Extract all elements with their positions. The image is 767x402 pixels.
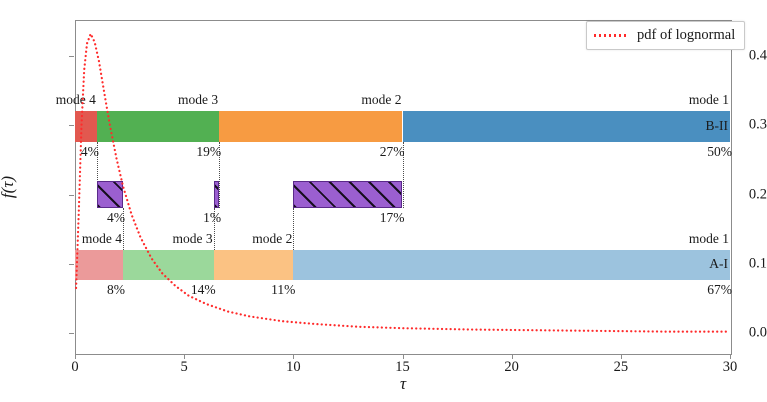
segment-percentage-label: 27% (380, 144, 405, 160)
plot-area (75, 20, 732, 355)
segment-percentage-label: 8% (107, 282, 125, 298)
x-tick-label: 30 (723, 359, 738, 376)
x-tick-label: 10 (286, 359, 301, 376)
bar-segment[interactable] (219, 111, 402, 141)
x-tick-label: 20 (504, 359, 519, 376)
x-tick-label: 0 (71, 359, 78, 376)
bar-segment[interactable] (75, 111, 97, 141)
segment-mode-label: mode 2 (361, 92, 401, 108)
bar-segment[interactable] (97, 181, 123, 209)
segment-percentage-label: 4% (81, 144, 99, 160)
y-tick-mark (69, 195, 74, 196)
bar-segment[interactable] (214, 250, 294, 280)
bar-segment[interactable] (403, 111, 731, 141)
bar-segment[interactable] (214, 181, 219, 209)
legend-label: pdf of lognormal (637, 27, 735, 44)
lognormal-mode-distribution-figure: f(τ) τ 0.00.10.20.30.4 051015202530 mode… (0, 0, 767, 402)
segment-mode-label: mode 1 (689, 231, 729, 247)
segment-percentage-label: 1% (203, 210, 221, 226)
segment-mode-label: mode 4 (82, 231, 122, 247)
segment-percentage-label: 50% (707, 144, 732, 160)
y-tick-mark (69, 264, 74, 265)
segment-percentage-label: 17% (380, 210, 405, 226)
boundary-guide-line (293, 208, 294, 250)
segment-mode-label: mode 1 (689, 92, 729, 108)
segment-percentage-label: 4% (107, 210, 125, 226)
bar-segment[interactable] (97, 111, 219, 141)
bar-segment[interactable] (75, 250, 123, 280)
y-tick-mark (69, 56, 74, 57)
bar-segment[interactable] (123, 250, 214, 280)
y-tick-mark (69, 333, 74, 334)
segment-mode-label: mode 3 (178, 92, 218, 108)
x-axis-label: τ (400, 374, 406, 394)
bar-segment[interactable] (293, 181, 402, 209)
segment-mode-label: mode 3 (173, 231, 213, 247)
segment-percentage-label: 14% (191, 282, 216, 298)
y-tick-mark (69, 125, 74, 126)
segment-mode-label: mode 4 (56, 92, 96, 108)
series-row-label: B-II (706, 118, 729, 134)
y-axis-label: f(τ) (0, 176, 18, 198)
segment-mode-label: mode 2 (252, 231, 292, 247)
bar-segment[interactable] (293, 250, 730, 280)
x-tick-label: 15 (395, 359, 410, 376)
legend-swatch-dotted-line (594, 34, 628, 37)
segment-percentage-label: 67% (707, 282, 732, 298)
legend[interactable]: pdf of lognormal (586, 21, 745, 50)
segment-percentage-label: 19% (196, 144, 221, 160)
segment-percentage-label: 11% (271, 282, 295, 298)
x-tick-label: 5 (181, 359, 188, 376)
x-tick-label: 25 (614, 359, 629, 376)
series-row-label: A-I (709, 256, 728, 272)
